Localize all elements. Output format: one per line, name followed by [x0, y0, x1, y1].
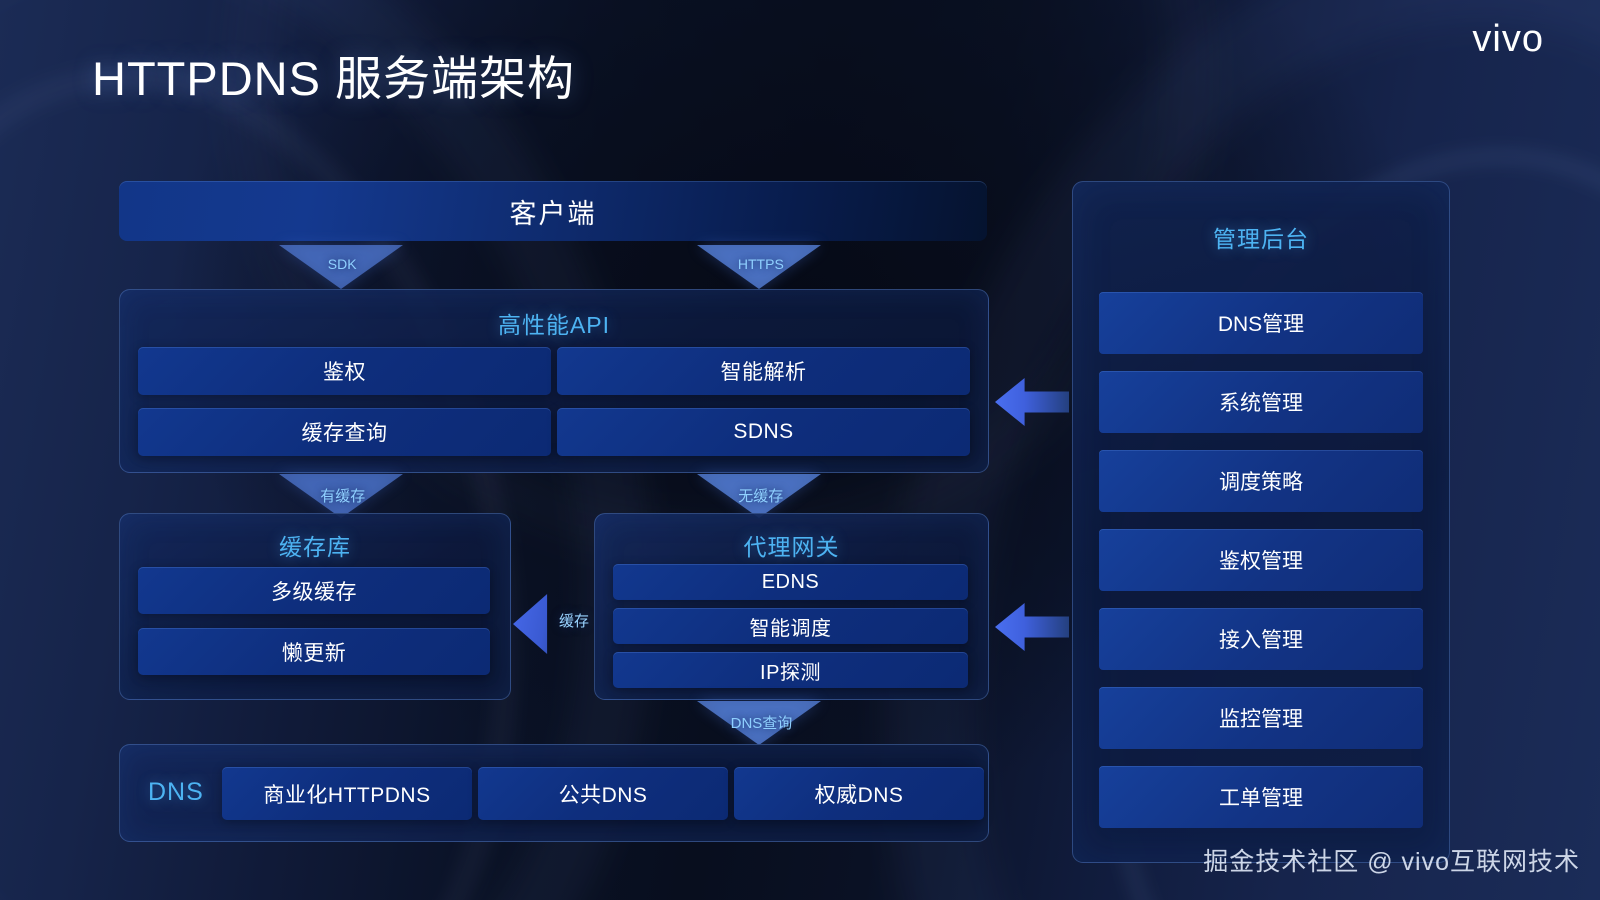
slide-canvas: HTTPDNS 服务端架构 vivo 客户端 SDK HTTPS 高性能API … — [0, 0, 1600, 900]
chip-label: 多级缓存 — [271, 576, 357, 606]
api-item-auth[interactable]: 鉴权 — [138, 347, 551, 395]
proxy-gateway-title: 代理网关 — [595, 528, 988, 562]
proxy-gateway-card: 代理网关 EDNS 智能调度 IP探测 — [594, 513, 989, 700]
high-performance-api-title: 高性能API — [120, 306, 988, 340]
flow-arrow-dns-query-label: DNS查询 — [731, 712, 793, 733]
chip-label: 商业化HTTPDNS — [263, 779, 430, 809]
chip-label: 公共DNS — [559, 779, 648, 809]
gateway-item-ip-probe[interactable]: IP探测 — [613, 652, 968, 688]
flow-arrow-cache-miss: 无缓存 — [697, 474, 821, 518]
flow-arrow-cache-hit-label: 有缓存 — [320, 485, 365, 506]
flow-arrow-cache-label: 缓存 — [559, 610, 589, 631]
admin-item-label: 调度策略 — [1219, 466, 1303, 496]
flow-arrow-cache-hit: 有缓存 — [279, 474, 403, 518]
admin-item-auth-management[interactable]: 鉴权管理 — [1099, 529, 1423, 591]
admin-item-label: 工单管理 — [1219, 782, 1303, 812]
admin-console-panel: 管理后台 DNS管理 系统管理 调度策略 鉴权管理 接入管理 监控管理 工单管理 — [1072, 181, 1450, 863]
flow-arrow-cache: 缓存 — [513, 594, 575, 654]
flow-arrow-dns-query: DNS查询 — [697, 701, 821, 745]
admin-item-label: 接入管理 — [1219, 624, 1303, 654]
chip-label: 缓存查询 — [302, 417, 388, 447]
cache-store-card: 缓存库 多级缓存 懒更新 — [119, 513, 511, 700]
chip-label: SDNS — [733, 420, 793, 444]
dns-item-public-dns[interactable]: 公共DNS — [478, 767, 728, 820]
page-title: HTTPDNS 服务端架构 — [92, 40, 575, 109]
flow-arrow-sdk-label: SDK — [328, 256, 357, 272]
gateway-item-smart-dispatch[interactable]: 智能调度 — [613, 608, 968, 644]
admin-item-monitor-management[interactable]: 监控管理 — [1099, 687, 1423, 749]
flow-arrow-sdk: SDK — [279, 245, 403, 289]
arrow-left-icon — [995, 603, 1069, 651]
cache-item-lazy-update[interactable]: 懒更新 — [138, 628, 490, 675]
chip-label: 智能解析 — [721, 356, 807, 386]
admin-item-label: DNS管理 — [1218, 308, 1304, 338]
flow-arrow-admin-to-api — [995, 378, 1069, 426]
dns-row-card: DNS 商业化HTTPDNS 公共DNS 权威DNS — [119, 744, 989, 842]
admin-item-system-management[interactable]: 系统管理 — [1099, 371, 1423, 433]
admin-item-label: 系统管理 — [1219, 387, 1303, 417]
admin-item-dns-management[interactable]: DNS管理 — [1099, 292, 1423, 354]
flow-arrow-https: HTTPS — [697, 245, 821, 289]
admin-item-access-management[interactable]: 接入管理 — [1099, 608, 1423, 670]
chip-label: 权威DNS — [815, 779, 904, 809]
admin-item-dispatch-policy[interactable]: 调度策略 — [1099, 450, 1423, 512]
watermark: 掘金技术社区 @ vivo互联网技术 — [1203, 842, 1580, 878]
admin-item-label: 监控管理 — [1219, 703, 1303, 733]
admin-item-label: 鉴权管理 — [1219, 545, 1303, 575]
high-performance-api-card: 高性能API 鉴权 智能解析 缓存查询 SDNS — [119, 289, 989, 473]
chip-label: EDNS — [762, 571, 820, 594]
client-label: 客户端 — [510, 192, 597, 231]
gateway-item-edns[interactable]: EDNS — [613, 564, 968, 600]
cache-item-multilevel[interactable]: 多级缓存 — [138, 567, 490, 614]
client-box: 客户端 — [119, 181, 987, 241]
api-item-smart-resolve[interactable]: 智能解析 — [557, 347, 970, 395]
api-item-cache-query[interactable]: 缓存查询 — [138, 408, 551, 456]
chip-label: 智能调度 — [750, 612, 832, 641]
flow-arrow-cache-miss-label: 无缓存 — [738, 485, 783, 506]
chip-label: IP探测 — [760, 656, 821, 685]
chip-label: 懒更新 — [282, 637, 347, 667]
dns-item-commercial-httpdns[interactable]: 商业化HTTPDNS — [222, 767, 472, 820]
vivo-logo: vivo — [1472, 18, 1544, 61]
chip-label: 鉴权 — [323, 356, 366, 386]
api-item-sdns[interactable]: SDNS — [557, 408, 970, 456]
dns-item-authoritative-dns[interactable]: 权威DNS — [734, 767, 984, 820]
flow-arrow-admin-to-gateway — [995, 603, 1069, 651]
dns-row-label: DNS — [148, 778, 204, 807]
arrow-left-icon — [995, 378, 1069, 426]
flow-arrow-https-label: HTTPS — [738, 256, 784, 272]
admin-console-title: 管理后台 — [1073, 220, 1449, 254]
admin-item-ticket-management[interactable]: 工单管理 — [1099, 766, 1423, 828]
cache-store-title: 缓存库 — [120, 528, 510, 562]
